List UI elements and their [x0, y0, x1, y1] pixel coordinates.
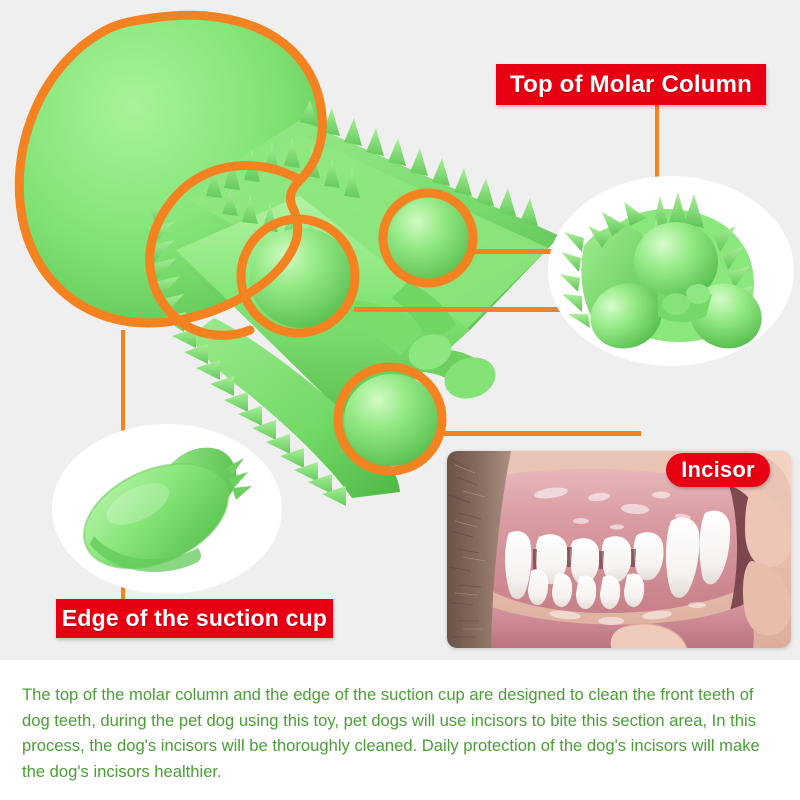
label-top-of-molar-column: Top of Molar Column: [496, 64, 766, 105]
leader-line-ring-lower: [441, 431, 641, 436]
description-panel: The top of the molar column and the edge…: [0, 660, 800, 800]
label-incisor: Incisor: [666, 453, 770, 487]
description-text: The top of the molar column and the edge…: [22, 682, 774, 784]
infographic-page: Top of Molar Column Edge of the suction …: [0, 0, 800, 800]
leader-line-ring-upper-left: [354, 307, 576, 312]
label-top-of-molar-column-text: Top of Molar Column: [510, 71, 752, 99]
inset-molar-column-top: [548, 176, 794, 366]
inset-suction-cup-image: [52, 424, 282, 594]
leader-line-suction-vertical-upper: [121, 330, 125, 440]
leader-line-molar-vertical: [655, 105, 659, 185]
inset-molar-column-top-image: [548, 176, 794, 366]
illustration-panel: Top of Molar Column Edge of the suction …: [0, 0, 800, 660]
label-edge-of-suction-cup: Edge of the suction cup: [56, 599, 333, 638]
label-edge-of-suction-cup-text: Edge of the suction cup: [62, 605, 327, 632]
inset-suction-cup-edge: [52, 424, 282, 594]
label-incisor-text: Incisor: [681, 457, 755, 483]
